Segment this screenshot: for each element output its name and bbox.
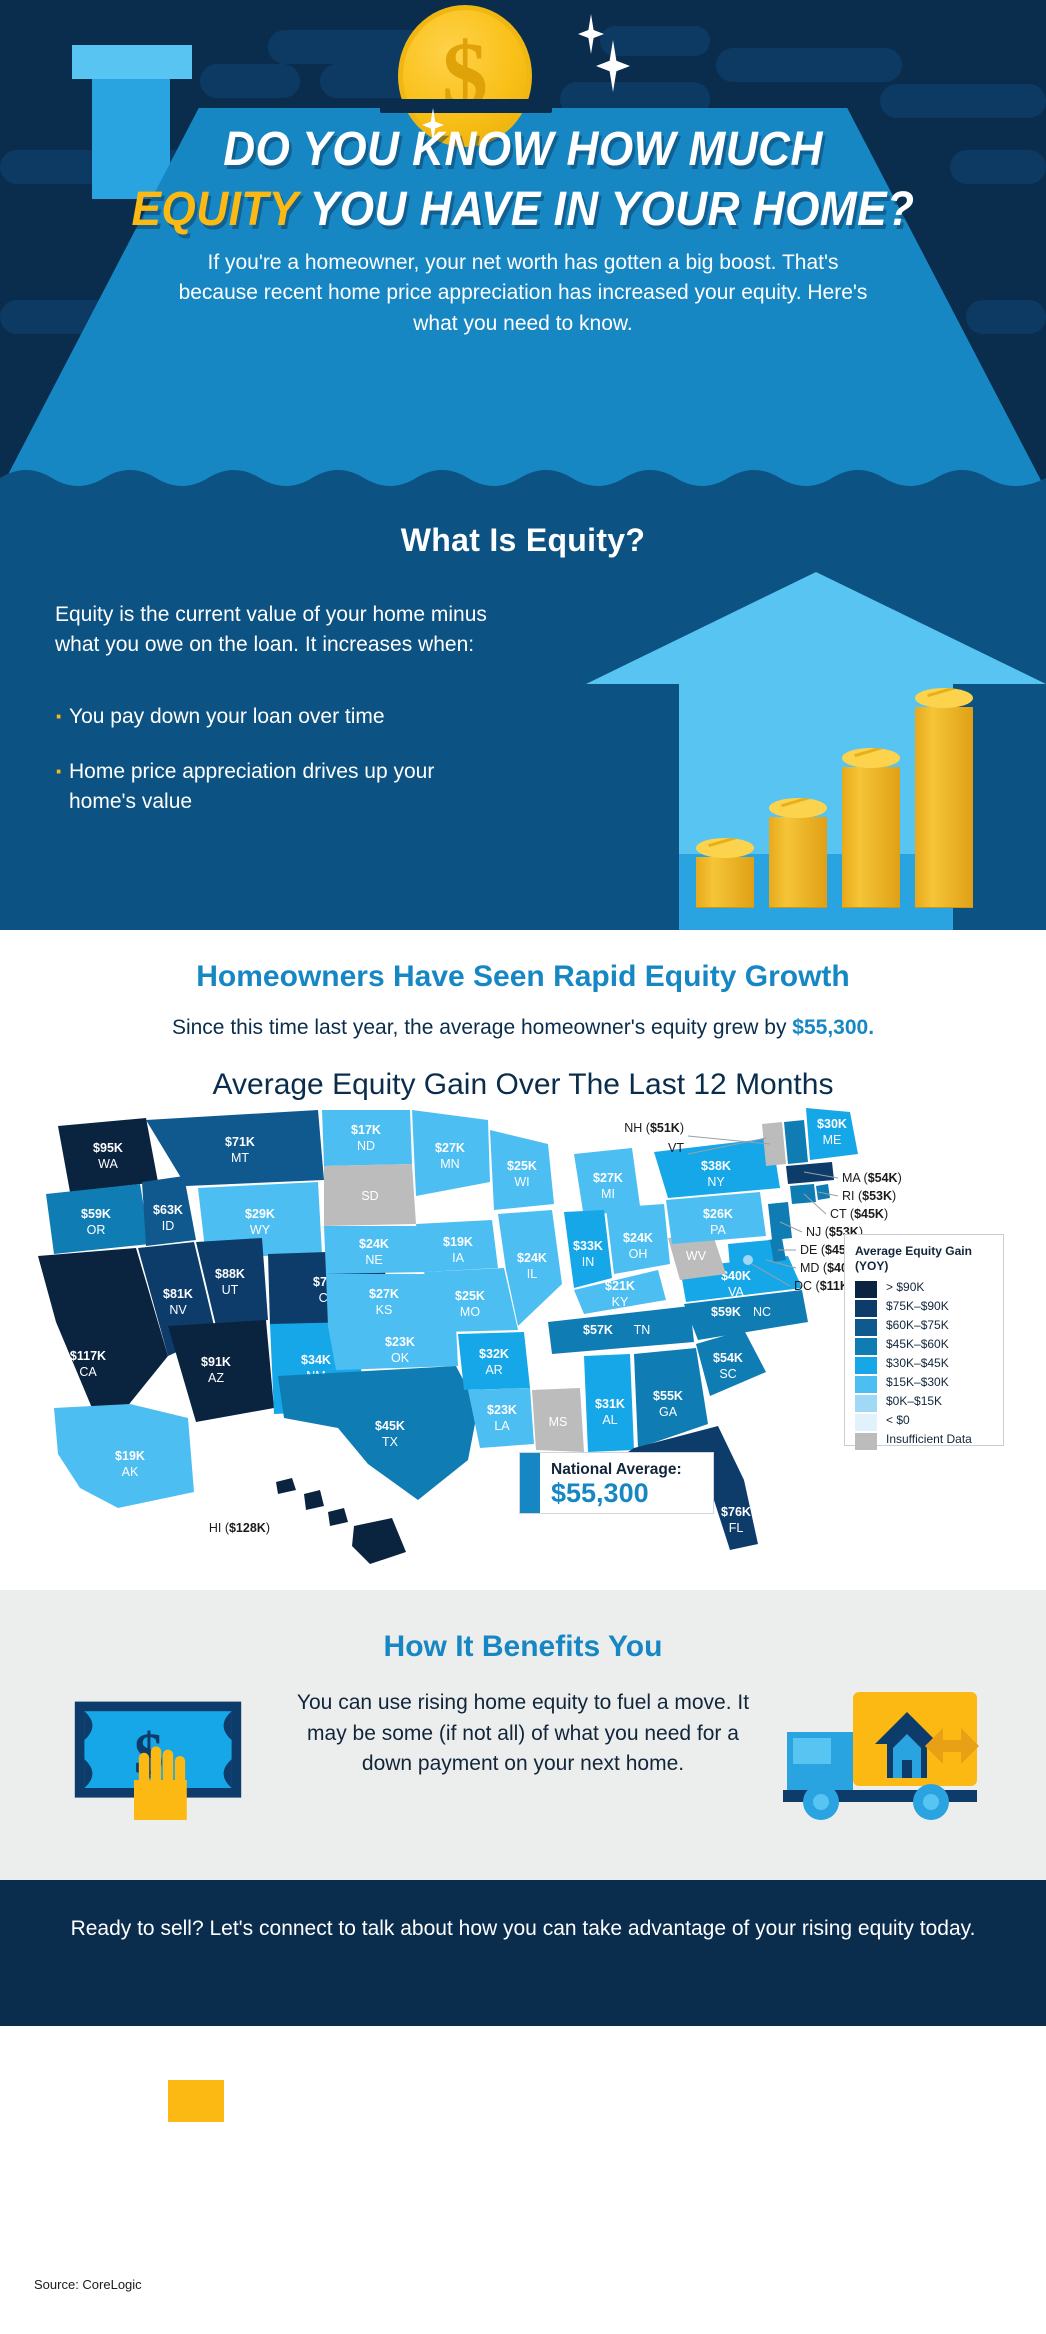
svg-text:FL: FL [729, 1521, 744, 1535]
state-ID[interactable]: $63K ID [142, 1176, 196, 1246]
svg-text:$27K: $27K [435, 1141, 465, 1155]
state-NJ[interactable] [768, 1202, 792, 1240]
state-OH[interactable]: $24K OH [606, 1204, 670, 1274]
cta-text: Ready to sell? Let's connect to talk abo… [0, 1914, 1046, 1944]
svg-text:VA: VA [728, 1285, 744, 1299]
svg-text:$23K: $23K [385, 1335, 415, 1349]
map-subtitle-prefix: Since this time last year, the average h… [172, 1016, 792, 1039]
callout-MA: MA ($54K) [842, 1171, 902, 1185]
svg-text:MN: MN [440, 1157, 459, 1171]
coin-stack-1 [696, 838, 754, 908]
sparkle-icon-1 [578, 14, 604, 54]
svg-text:$57K: $57K [583, 1323, 613, 1337]
benefits-heading: How It Benefits You [0, 1630, 1046, 1664]
hero-title-line-1: DO YOU KNOW HOW MUCH [42, 120, 1004, 180]
coin-top [915, 688, 973, 708]
callout-HI: HI ($128K) [209, 1521, 270, 1535]
house-roof [586, 572, 1046, 684]
legend-swatch [855, 1281, 877, 1298]
bg-shape-4 [716, 48, 902, 82]
state-IA[interactable]: $19K IA [416, 1220, 498, 1272]
state-AZ[interactable]: $91K AZ [168, 1320, 274, 1422]
svg-text:$34K: $34K [301, 1353, 331, 1367]
legend-label: $0K–$15K [886, 1395, 942, 1409]
svg-text:KS: KS [376, 1303, 393, 1317]
svg-text:$25K: $25K [455, 1289, 485, 1303]
callout-RI: RI ($53K) [842, 1189, 896, 1203]
legend-item[interactable]: $30K–$45K [855, 1357, 995, 1374]
svg-text:$54K: $54K [713, 1351, 743, 1365]
cash-hand-icon: $ [52, 1700, 264, 1820]
state-OK[interactable]: $23K OK [328, 1326, 458, 1370]
legend-label: $75K–$90K [886, 1300, 949, 1314]
legend-swatch [855, 1433, 877, 1450]
hero-title-line-2: EQUITY YOU HAVE IN YOUR HOME? [42, 180, 1004, 240]
svg-text:TN: TN [634, 1323, 651, 1337]
svg-text:$95K: $95K [93, 1141, 123, 1155]
equity-heading: What Is Equity? [0, 522, 1046, 559]
state-KS[interactable]: $27K KS [326, 1274, 442, 1326]
chimney-top [72, 45, 192, 79]
cta-section: Ready to sell? Let's connect to talk abo… [0, 1880, 1046, 2026]
bg-shape-5 [600, 26, 710, 56]
legend-title: Average Equity Gain (YOY) [855, 1244, 995, 1274]
map-section-heading: Homeowners Have Seen Rapid Equity Growth [0, 960, 1046, 994]
map-section-subtitle: Since this time last year, the average h… [0, 1016, 1046, 1040]
state-AL[interactable]: $31K AL [584, 1354, 634, 1452]
legend-item[interactable]: < $0 [855, 1414, 995, 1431]
svg-text:$19K: $19K [443, 1235, 473, 1249]
svg-text:AR: AR [485, 1363, 502, 1377]
state-PA[interactable]: $26K PA [666, 1192, 766, 1244]
state-MN[interactable]: $27K MN [412, 1110, 490, 1196]
coin-stack-4 [915, 688, 973, 908]
state-TX[interactable]: $45K TX [278, 1366, 478, 1500]
svg-text:IN: IN [582, 1255, 595, 1269]
legend-swatch [855, 1319, 877, 1336]
svg-text:AK: AK [122, 1465, 139, 1479]
svg-text:$19K: $19K [115, 1449, 145, 1463]
svg-text:$24K: $24K [359, 1237, 389, 1251]
legend-swatch [855, 1376, 877, 1393]
svg-text:$27K: $27K [369, 1287, 399, 1301]
list-item: Home price appreciation drives up your h… [55, 757, 495, 817]
state-OR[interactable]: $59K OR [46, 1184, 150, 1254]
svg-text:$59K: $59K [711, 1305, 741, 1319]
hero-title-rest: YOU HAVE IN YOUR HOME? [310, 183, 915, 236]
state-MT[interactable]: $71K MT [146, 1110, 324, 1186]
svg-text:$27K: $27K [593, 1171, 623, 1185]
svg-text:OK: OK [391, 1351, 410, 1365]
svg-text:MI: MI [601, 1187, 615, 1201]
svg-text:IL: IL [527, 1267, 537, 1281]
hand-icon [134, 1746, 187, 1820]
svg-text:$45K: $45K [375, 1419, 405, 1433]
legend-label: $60K–$75K [886, 1319, 949, 1333]
svg-text:WV: WV [686, 1249, 707, 1263]
svg-text:WY: WY [250, 1223, 271, 1237]
svg-text:$88K: $88K [215, 1267, 245, 1281]
national-average-value: $55,300 [551, 1479, 682, 1507]
what-is-equity-section: What Is Equity? [0, 490, 1046, 930]
svg-text:NV: NV [169, 1303, 187, 1317]
coin-slot [380, 99, 552, 113]
state-ME[interactable]: $30K ME [806, 1108, 858, 1160]
svg-text:$40K: $40K [721, 1269, 751, 1283]
svg-text:MS: MS [549, 1415, 568, 1429]
legend-swatch [855, 1300, 877, 1317]
source-attribution: Source: CoreLogic [34, 2277, 142, 2292]
state-IN[interactable]: $33K IN [564, 1210, 612, 1288]
svg-text:$30K: $30K [817, 1117, 847, 1131]
moving-truck-icon [775, 1686, 985, 1834]
state-SD[interactable]: SD [324, 1164, 416, 1226]
legend-item[interactable]: $0K–$15K [855, 1395, 995, 1412]
svg-text:$55K: $55K [653, 1389, 683, 1403]
hero-subtitle: If you're a homeowner, your net worth ha… [0, 248, 1046, 339]
state-AK[interactable]: $19K AK [54, 1404, 194, 1508]
svg-text:SD: SD [361, 1189, 378, 1203]
legend-label: < $0 [886, 1414, 910, 1428]
coin-stack-3 [842, 748, 900, 908]
state-LA[interactable]: $23K LA [468, 1388, 534, 1448]
svg-text:$24K: $24K [517, 1251, 547, 1265]
svg-text:$24K: $24K [623, 1231, 653, 1245]
legend-label: $45K–$60K [886, 1338, 949, 1352]
svg-text:GA: GA [659, 1405, 678, 1419]
state-WA[interactable]: $95K WA [58, 1118, 158, 1192]
yellow-accent-tab [168, 2080, 224, 2122]
list-item: You pay down your loan over time [55, 702, 495, 732]
equity-bullet-list: You pay down your loan over time Home pr… [55, 702, 495, 817]
state-SC[interactable]: $54K SC [696, 1330, 766, 1396]
wave-divider [0, 468, 1046, 490]
legend-swatch [855, 1414, 877, 1431]
svg-text:$26K: $26K [703, 1207, 733, 1221]
svg-text:UT: UT [222, 1283, 239, 1297]
svg-text:MT: MT [231, 1151, 249, 1165]
coin-top [842, 748, 900, 768]
svg-text:CA: CA [79, 1365, 97, 1379]
map-subtitle-value: $55,300. [792, 1016, 874, 1039]
legend-label: Insufficient Data [886, 1433, 972, 1447]
svg-text:PA: PA [710, 1223, 726, 1237]
map-section: Homeowners Have Seen Rapid Equity Growth… [0, 930, 1046, 1590]
legend-item[interactable]: > $90K [855, 1281, 995, 1298]
coin-top [769, 798, 827, 818]
state-WI[interactable]: $25K WI [490, 1130, 554, 1210]
svg-text:$91K: $91K [201, 1355, 231, 1369]
svg-text:MO: MO [460, 1305, 480, 1319]
coin-top [696, 838, 754, 858]
svg-text:$32K: $32K [479, 1347, 509, 1361]
bg-shape-2 [200, 64, 300, 98]
state-HI[interactable] [276, 1478, 406, 1564]
hero-title-highlight: EQUITY [131, 183, 297, 236]
svg-text:$31K: $31K [595, 1397, 625, 1411]
benefits-section: How It Benefits You You can use rising h… [0, 1590, 1046, 1880]
svg-text:KY: KY [612, 1295, 629, 1309]
callout-NH: NH ($51K) [624, 1121, 684, 1135]
svg-text:SC: SC [719, 1367, 736, 1381]
svg-text:LA: LA [494, 1419, 510, 1433]
svg-text:$33K: $33K [573, 1239, 603, 1253]
legend-item[interactable]: $75K–$90K [855, 1300, 995, 1317]
svg-text:AL: AL [602, 1413, 617, 1427]
legend-item[interactable]: Insufficient Data [855, 1433, 995, 1450]
legend-label: $30K–$45K [886, 1357, 949, 1371]
national-average-callout: National Average: $55,300 [519, 1452, 714, 1514]
svg-text:$38K: $38K [701, 1159, 731, 1173]
legend-item[interactable]: $60K–$75K [855, 1319, 995, 1336]
svg-text:$21K: $21K [605, 1279, 635, 1293]
page-title: DO YOU KNOW HOW MUCH EQUITY YOU HAVE IN … [0, 120, 1046, 239]
benefits-paragraph: You can use rising home equity to fuel a… [288, 1688, 758, 1780]
legend-item[interactable]: $45K–$60K [855, 1338, 995, 1355]
equity-paragraph: Equity is the current value of your home… [55, 600, 495, 660]
svg-text:OH: OH [629, 1247, 648, 1261]
hero-subtitle-text: If you're a homeowner, your net worth ha… [173, 248, 873, 339]
infographic-page: $ DO YOU KNOW HOW MUCH EQUITY YOU HAVE I… [0, 0, 1046, 2334]
svg-text:AZ: AZ [208, 1371, 224, 1385]
svg-text:$25K: $25K [507, 1159, 537, 1173]
map-title: Average Equity Gain Over The Last 12 Mon… [0, 1068, 1046, 1102]
state-DC[interactable] [743, 1255, 753, 1265]
svg-text:WI: WI [514, 1175, 529, 1189]
bg-shape-7 [880, 84, 1046, 118]
callout-VT: VT [668, 1141, 684, 1155]
svg-text:TX: TX [382, 1435, 399, 1449]
svg-text:$71K: $71K [225, 1135, 255, 1149]
legend-swatch [855, 1395, 877, 1412]
house-illustration [586, 572, 1046, 930]
coin-stack-2 [769, 798, 827, 908]
equity-copy: Equity is the current value of your home… [55, 600, 495, 843]
legend-label: > $90K [886, 1281, 924, 1295]
state-AR[interactable]: $32K AR [458, 1332, 530, 1390]
svg-text:IA: IA [452, 1251, 464, 1265]
state-ND[interactable]: $17K ND [322, 1110, 412, 1166]
svg-text:$117K: $117K [70, 1349, 106, 1363]
hero-section: $ DO YOU KNOW HOW MUCH EQUITY YOU HAVE I… [0, 0, 1046, 490]
svg-text:$76K: $76K [721, 1505, 751, 1519]
state-NE[interactable]: $24K NE [324, 1226, 428, 1274]
svg-text:ND: ND [357, 1139, 375, 1153]
legend-item[interactable]: $15K–$30K [855, 1376, 995, 1393]
svg-text:$29K: $29K [245, 1207, 275, 1221]
svg-text:$81K: $81K [163, 1287, 193, 1301]
svg-text:ME: ME [823, 1133, 842, 1147]
national-average-label: National Average: [551, 1461, 682, 1479]
state-NH[interactable] [784, 1120, 808, 1164]
legend-label: $15K–$30K [886, 1376, 949, 1390]
svg-text:$23K: $23K [487, 1403, 517, 1417]
national-average-accent-bar [520, 1453, 540, 1513]
svg-text:$17K: $17K [351, 1123, 381, 1137]
state-TN[interactable]: $57K TN [548, 1306, 694, 1354]
svg-text:NC: NC [753, 1305, 771, 1319]
callout-CT: CT ($45K) [830, 1207, 888, 1221]
svg-text:WA: WA [98, 1157, 118, 1171]
map-states: $95K WA $59K OR $117K CA $ [38, 1108, 858, 1564]
svg-text:$63K: $63K [153, 1203, 183, 1217]
svg-text:OR: OR [87, 1223, 106, 1237]
legend-swatch [855, 1338, 877, 1355]
svg-text:$59K: $59K [81, 1207, 111, 1221]
legend-swatch [855, 1357, 877, 1374]
map-legend: Average Equity Gain (YOY) > $90K $75K–$9… [844, 1234, 1004, 1446]
svg-text:NE: NE [365, 1253, 382, 1267]
svg-text:ID: ID [162, 1219, 175, 1233]
state-MS[interactable]: MS [532, 1388, 584, 1452]
svg-text:NY: NY [707, 1175, 725, 1189]
